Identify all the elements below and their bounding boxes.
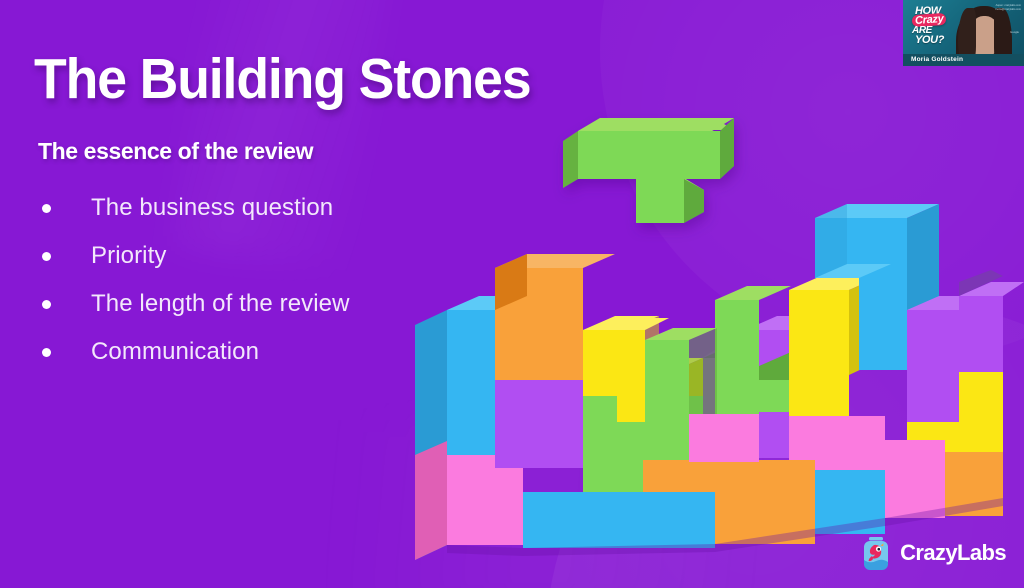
list-item: Communication (42, 328, 350, 376)
page-title: The Building Stones (34, 46, 531, 112)
background-light-streak-lower (330, 420, 760, 588)
logo-line-you: YOU? (915, 34, 944, 46)
participant-name-label: Moria Goldstein (903, 54, 1024, 67)
slide-subtitle: The essence of the review (38, 138, 313, 165)
list-item: The length of the review (42, 280, 350, 328)
list-item: Priority (42, 232, 350, 280)
list-item-label: Priority (91, 242, 166, 270)
list-item-label: Communication (91, 338, 259, 366)
list-item: The business question (42, 184, 350, 232)
how-crazy-are-you-logo: HOW Crazy ARE YOU? (911, 5, 965, 47)
bullet-dot-icon (42, 204, 51, 213)
list-item-label: The length of the review (91, 290, 350, 318)
crazylabs-jar-icon (861, 536, 891, 570)
bullet-dot-icon (42, 348, 51, 357)
webcam-microtext: Aspen: crazylabs.com moria@crazylabs.com (977, 4, 1021, 11)
bullet-dot-icon (42, 252, 51, 261)
list-item-label: The business question (91, 194, 333, 222)
crazylabs-logo: CrazyLabs (861, 536, 1006, 570)
bullet-list: The business question Priority The lengt… (42, 184, 350, 376)
webcam-corner-badge: Google (1010, 30, 1019, 34)
webcam-overlay[interactable]: HOW Crazy ARE YOU? Aspen: crazylabs.com … (900, 0, 1024, 66)
bullet-dot-icon (42, 300, 51, 309)
crazylabs-wordmark: CrazyLabs (900, 540, 1006, 566)
